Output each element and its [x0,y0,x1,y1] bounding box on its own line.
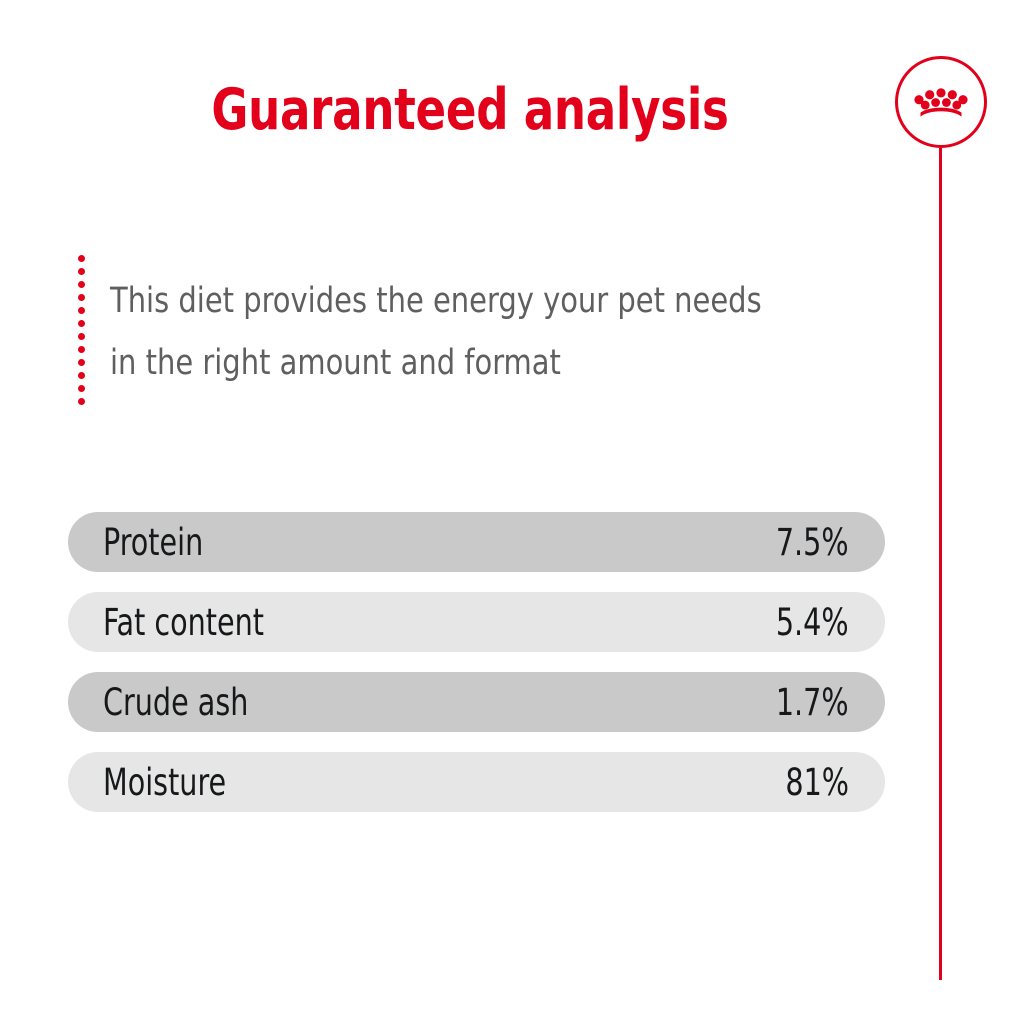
accent-dot [78,307,85,314]
accent-dot [78,281,85,288]
nutrient-value: 81% [785,764,849,801]
table-row: Protein 7.5% [68,512,885,572]
accent-dot [78,398,85,405]
guaranteed-analysis-panel: Guaranteed analysis [0,0,1024,1024]
nutrient-label: Protein [103,524,203,561]
table-row: Fat content 5.4% [68,592,885,652]
accent-dot [78,294,85,301]
nutrient-label: Moisture [103,764,226,801]
logo-vertical-rule [939,148,942,980]
analysis-table: Protein 7.5% Fat content 5.4% Crude ash … [68,512,885,832]
accent-dot [78,372,85,379]
page-title: Guaranteed analysis [56,82,883,139]
accent-dot [78,268,85,275]
accent-dot [78,255,85,262]
royal-canin-crown-icon [913,83,969,119]
accent-dot [78,385,85,392]
table-row: Moisture 81% [68,752,885,812]
dotted-accent-rule [78,255,85,405]
accent-dot [78,359,85,366]
accent-dot [78,346,85,353]
nutrient-label: Fat content [103,604,264,641]
intro-text: This diet provides the energy your pet n… [110,270,809,394]
nutrient-value: 5.4% [776,604,849,641]
nutrient-value: 7.5% [776,524,849,561]
intro-text-line-1: This diet provides the energy your pet n… [110,270,809,332]
nutrient-label: Crude ash [103,684,248,721]
accent-dot [78,320,85,327]
accent-dot [78,333,85,340]
intro-text-line-2: in the right amount and format [110,332,809,394]
table-row: Crude ash 1.7% [68,672,885,732]
brand-logo [895,56,987,148]
intro-block: This diet provides the energy your pet n… [68,255,868,405]
nutrient-value: 1.7% [776,684,849,721]
